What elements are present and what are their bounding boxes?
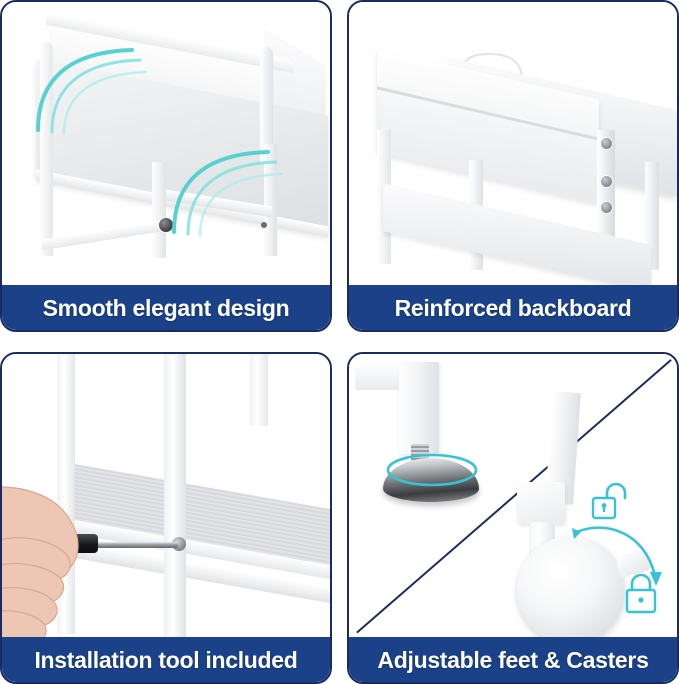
post-right (250, 354, 268, 426)
panel-caption: Installation tool included (1, 637, 331, 683)
panel-caption: Adjustable feet & Casters (348, 637, 678, 683)
screw-icon (601, 176, 612, 187)
screw-icon (601, 202, 612, 213)
panel-installation-tool-included: Installation tool included (0, 352, 332, 684)
panel-smooth-elegant-design: Smooth elegant design (0, 0, 332, 332)
caster-mount-box (517, 482, 565, 524)
post-center (164, 354, 186, 639)
panel-caption: Reinforced backboard (348, 285, 678, 331)
panel-adjustable-feet-casters: Adjustable feet & Casters (347, 352, 679, 684)
hand-icon (2, 484, 112, 649)
lock-icon (623, 572, 663, 616)
curved-accent-arc-icon (160, 132, 290, 237)
feature-panel-grid: Smooth elegant design Reinforced backboa… (0, 0, 679, 684)
panel-caption: Smooth elegant design (1, 285, 331, 331)
curved-accent-arc-icon (24, 30, 154, 135)
product-photo-feet-casters (349, 354, 677, 682)
brace-left (42, 221, 160, 251)
panel-reinforced-backboard: Reinforced backboard (347, 0, 679, 332)
product-photo-reinforced-backboard (349, 2, 677, 330)
accent-ellipse-icon (381, 446, 483, 490)
product-photo-installation-tool (2, 354, 330, 682)
screw-icon (601, 138, 612, 149)
square-leg (399, 362, 439, 454)
product-photo-smooth-design (2, 2, 330, 330)
